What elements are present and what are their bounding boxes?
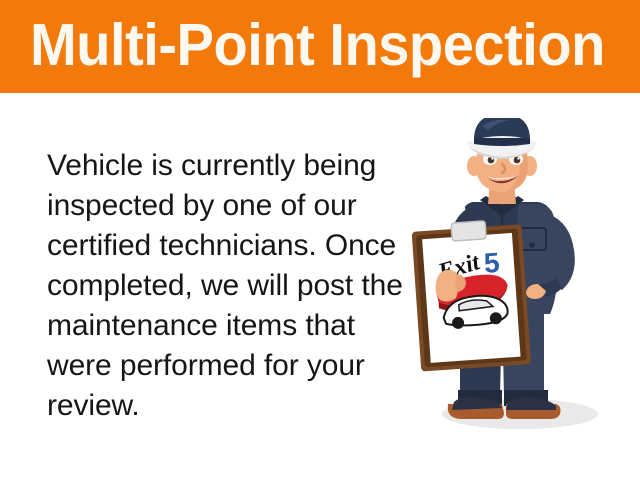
right-eye-pupil	[514, 157, 521, 164]
clipboard-clip	[451, 221, 486, 241]
page-title: Multi-Point Inspection	[30, 9, 605, 81]
clipboard: Exit 5	[411, 218, 531, 371]
cap-band	[474, 138, 530, 146]
right-eye-glint	[517, 157, 519, 159]
mechanic-illustration: Exit 5	[398, 118, 640, 440]
body-paragraph: Vehicle is currently being inspected by …	[47, 146, 405, 426]
logo-brand-number: 5	[483, 247, 501, 279]
header-banner: Multi-Point Inspection	[0, 0, 640, 93]
chest-pocket-button	[529, 242, 535, 248]
